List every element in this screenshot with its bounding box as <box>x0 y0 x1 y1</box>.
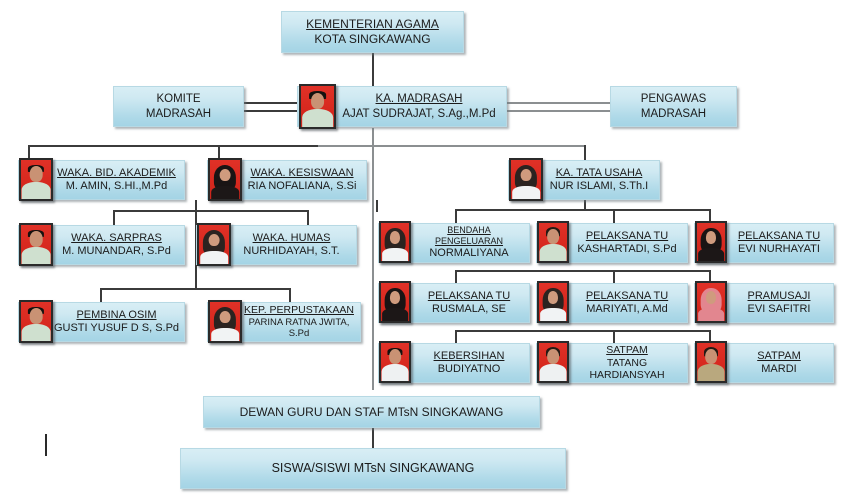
connector-drop-pembina-osim <box>100 288 102 302</box>
node-subtitle: M. MUNANDAR, S.Pd <box>53 245 180 258</box>
node-subtitle: AJAT SUDRAJAT, S.Ag.,M.Pd <box>336 107 502 121</box>
node-title: KEMENTERIAN AGAMA <box>286 17 459 32</box>
photo-pembina-osim <box>19 300 53 343</box>
node-title: KA. MADRASAH <box>336 92 502 106</box>
photo-pramusaji <box>695 281 727 323</box>
node-title: PELAKSANA TU <box>571 290 683 303</box>
node-subtitle: MARIYATI, A.Md <box>571 303 683 316</box>
connector-dewan-to-siswa <box>372 428 374 448</box>
connector-tu-row1-bar <box>455 209 710 211</box>
node-title: PELAKSANA TU <box>729 230 829 243</box>
node-title: PELAKSANA TU <box>571 230 683 243</box>
node-title: KEP. PERPUSTAKAAN <box>242 304 356 317</box>
connector-komite-to-kepala-bottom <box>243 110 298 112</box>
node-siswa-siswi[interactable]: SISWA/SISWI MTsN SINGKAWANG <box>180 448 566 489</box>
node-subtitle: MADRASAH <box>615 107 732 121</box>
connector-drop-pelaksana-rusmala <box>455 270 457 283</box>
photo-waka-kesiswaan <box>208 158 242 201</box>
node-subtitle: M. AMIN, S.HI.,M.Pd <box>53 180 180 193</box>
connector-drop-waka-sarpras <box>113 210 115 225</box>
connector-tu-row3-bar <box>455 330 710 332</box>
connector-drop-waka-humas <box>307 210 309 225</box>
connector-kepala-spine <box>372 128 374 390</box>
photo-ka-tata-usaha <box>509 158 543 201</box>
connector-tu-row2-bar <box>455 270 710 272</box>
node-title: SISWA/SISWI MTsN SINGKAWANG <box>185 461 561 476</box>
node-title: WAKA. BID. AKADEMIK <box>53 167 180 180</box>
connector-drop-kebersihan <box>455 330 457 343</box>
connector-drop-satpam-tatang <box>613 330 615 343</box>
connector-ministry-to-kepala <box>372 52 374 88</box>
photo-kebersihan <box>379 341 411 383</box>
node-title: KOMITE <box>118 92 239 106</box>
node-subtitle: NURHIDAYAH, S.T. <box>231 245 352 258</box>
connector-drop-pelaksana-kashartadi <box>613 209 615 223</box>
node-title: SATPAM <box>729 350 829 363</box>
node-komite-madrasah[interactable]: KOMITE MADRASAH <box>113 86 244 127</box>
connector-tu-left-rail <box>376 200 378 212</box>
stray-tick-mark <box>45 434 47 456</box>
connector-drop-ka-tata-usaha <box>584 145 586 160</box>
photo-bendahara-pengeluaran <box>379 221 411 263</box>
photo-waka-bid-akademik <box>19 158 53 201</box>
node-subtitle: NUR ISLAMI, S.Th.I <box>543 180 655 193</box>
node-title: WAKA. KESISWAAN <box>242 167 362 180</box>
node-title: PELAKSANA TU <box>413 290 525 303</box>
node-title: KA. TATA USAHA <box>543 167 655 180</box>
connector-drop-bendahara <box>455 209 457 223</box>
photo-satpam-mardi <box>695 341 727 383</box>
node-subtitle: GUSTI YUSUF D S, S.Pd <box>53 322 180 335</box>
org-chart: KEMENTERIAN AGAMA KOTA SINGKAWANG KOMITE… <box>0 0 844 499</box>
photo-waka-humas <box>197 223 231 266</box>
connector-kepala-to-pengawas-top <box>506 102 611 104</box>
photo-ka-madrasah <box>299 84 336 129</box>
photo-pelaksana-tu-mariyati <box>537 281 569 323</box>
node-title: PEMBINA OSIM <box>53 309 180 322</box>
photo-satpam-tatang <box>537 341 569 383</box>
node-subtitle: MADRASAH <box>118 107 239 121</box>
connector-drop-kep-perpustakaan <box>289 288 291 302</box>
connector-row-osim-perpus <box>100 288 290 290</box>
node-subtitle: NORMALIYANA <box>413 247 525 260</box>
node-subtitle: RUSMALA, SE <box>413 303 525 316</box>
connector-drop-pelaksana-mariyati <box>613 270 615 283</box>
node-title: PENGAWAS <box>615 92 732 106</box>
node-title: SATPAM <box>571 344 683 357</box>
photo-waka-sarpras <box>19 223 53 266</box>
connector-komite-to-kepala-top <box>243 102 298 104</box>
photo-pelaksana-tu-rusmala <box>379 281 411 323</box>
node-subtitle: TATANG HARDIANSYAH <box>571 357 683 383</box>
node-title: WAKA. HUMAS <box>231 232 352 245</box>
node-subtitle: EVI SAFITRI <box>729 303 829 316</box>
node-subtitle: EVI NURHAYATI <box>729 243 829 256</box>
node-title: PRAMUSAJI <box>729 290 829 303</box>
connector-level3-bar-left <box>28 145 318 147</box>
connector-level3-bar-right <box>318 145 585 147</box>
node-subtitle: PARINA RATNA JWITA, S.Pd <box>242 317 356 340</box>
node-title: BENDAHA PENGELUARAN <box>413 225 525 247</box>
node-subtitle: KASHARTADI, S.Pd <box>571 243 683 256</box>
connector-row-sarpras-humas <box>113 210 308 212</box>
node-title: KEBERSIHAN <box>413 350 525 363</box>
node-pengawas-madrasah[interactable]: PENGAWAS MADRASAH <box>610 86 737 127</box>
photo-pelaksana-tu-evi-nurhayati <box>695 221 727 263</box>
node-title: WAKA. SARPRAS <box>53 232 180 245</box>
connector-kepala-to-pengawas-bottom <box>506 110 611 112</box>
node-dewan-guru-dan-staf[interactable]: DEWAN GURU DAN STAF MTsN SINGKAWANG <box>203 396 540 428</box>
photo-pelaksana-tu-kashartadi <box>537 221 569 263</box>
node-subtitle: KOTA SINGKAWANG <box>286 32 459 47</box>
connector-tu-spine <box>584 200 586 209</box>
node-subtitle: MARDI <box>729 363 829 376</box>
node-subtitle: BUDIYATNO <box>413 363 525 376</box>
node-subtitle: RIA NOFALIANA, S.Si <box>242 180 362 193</box>
node-title: DEWAN GURU DAN STAF MTsN SINGKAWANG <box>208 405 535 420</box>
photo-kep-perpustakaan <box>208 300 242 343</box>
node-kementerian-agama[interactable]: KEMENTERIAN AGAMA KOTA SINGKAWANG <box>281 11 464 53</box>
